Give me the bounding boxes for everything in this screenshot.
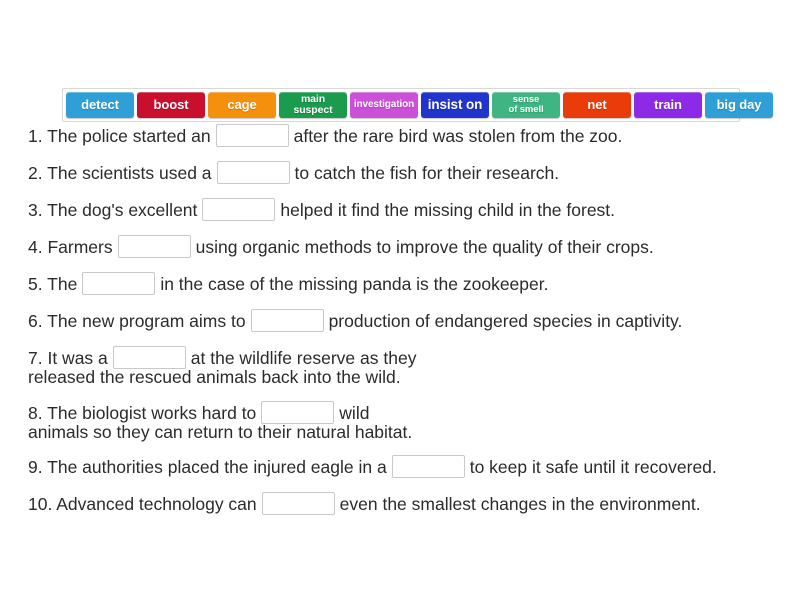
sentence-text: at the wildlife reserve as they (191, 348, 417, 368)
sentence-row: 6. The new program aims toproduction of … (28, 309, 784, 332)
sentence-text: production of endangered species in capt… (329, 311, 683, 331)
sentence-text: Advanced technology can (52, 494, 256, 514)
sentence-text: to keep it safe until it recovered. (470, 457, 717, 477)
answer-blank[interactable] (392, 455, 465, 478)
word-chip[interactable]: sense of smell (492, 92, 560, 118)
word-chip[interactable]: net (563, 92, 631, 118)
sentence-text: The authorities placed the injured eagle… (43, 457, 387, 477)
word-chip[interactable]: boost (137, 92, 205, 118)
sentence-text: The new program aims to (43, 311, 246, 331)
word-chip[interactable]: investigation (350, 92, 418, 118)
sentence-text: after the rare bird was stolen from the … (294, 126, 623, 146)
sentence-row: 1. The police started anafter the rare b… (28, 124, 784, 147)
sentence-text: The dog's excellent (43, 200, 198, 220)
sentence-number: 6. (28, 311, 43, 331)
sentence-text: The police started an (43, 126, 211, 146)
sentence-row: 8. The biologist works hard towildanimal… (28, 401, 784, 442)
sentence-text: using organic methods to improve the qua… (196, 237, 654, 257)
sentence-number: 10. (28, 494, 52, 514)
sentence-number: 5. (28, 274, 43, 294)
word-chip[interactable]: big day (705, 92, 773, 118)
answer-blank[interactable] (216, 124, 289, 147)
word-bank-panel: detectboostcagemain suspectinvestigation… (62, 88, 740, 122)
sentence-text: released the rescued animals back into t… (28, 367, 401, 387)
sentence-text: The biologist works hard to (43, 403, 257, 423)
sentence-text: helped it find the missing child in the … (280, 200, 615, 220)
answer-blank[interactable] (261, 401, 334, 424)
sentence-number: 4. (28, 237, 43, 257)
sentence-number: 1. (28, 126, 43, 146)
sentence-text: It was a (43, 348, 108, 368)
answer-blank[interactable] (82, 272, 155, 295)
sentence-number: 3. (28, 200, 43, 220)
word-chip[interactable]: cage (208, 92, 276, 118)
sentence-row: 9. The authorities placed the injured ea… (28, 455, 784, 478)
sentence-text: The (43, 274, 78, 294)
sentence-text: wild (339, 403, 369, 423)
word-bank-chip-list: detectboostcagemain suspectinvestigation… (66, 92, 736, 118)
sentence-list: 1. The police started anafter the rare b… (28, 124, 784, 529)
word-chip[interactable]: main suspect (279, 92, 347, 118)
sentence-number: 8. (28, 403, 43, 423)
sentence-row: 3. The dog's excellenthelped it find the… (28, 198, 784, 221)
sentence-text: animals so they can return to their natu… (28, 422, 412, 442)
answer-blank[interactable] (262, 492, 335, 515)
answer-blank[interactable] (217, 161, 290, 184)
answer-blank[interactable] (118, 235, 191, 258)
sentence-row: 7. It was aat the wildlife reserve as th… (28, 346, 784, 387)
sentence-text: Farmers (43, 237, 113, 257)
sentence-number: 7. (28, 348, 43, 368)
answer-blank[interactable] (202, 198, 275, 221)
sentence-row: 2. The scientists used ato catch the fis… (28, 161, 784, 184)
word-chip[interactable]: insist on (421, 92, 489, 118)
sentence-row: 10. Advanced technology caneven the smal… (28, 492, 784, 515)
word-chip[interactable]: detect (66, 92, 134, 118)
sentence-row: 5. Thein the case of the missing panda i… (28, 272, 784, 295)
sentence-number: 9. (28, 457, 43, 477)
answer-blank[interactable] (251, 309, 324, 332)
sentence-text: The scientists used a (43, 163, 212, 183)
word-chip[interactable]: train (634, 92, 702, 118)
answer-blank[interactable] (113, 346, 186, 369)
sentence-row: 4. Farmersusing organic methods to impro… (28, 235, 784, 258)
sentence-text: even the smallest changes in the environ… (340, 494, 701, 514)
sentence-number: 2. (28, 163, 43, 183)
sentence-text: to catch the fish for their research. (295, 163, 560, 183)
sentence-text: in the case of the missing panda is the … (160, 274, 548, 294)
